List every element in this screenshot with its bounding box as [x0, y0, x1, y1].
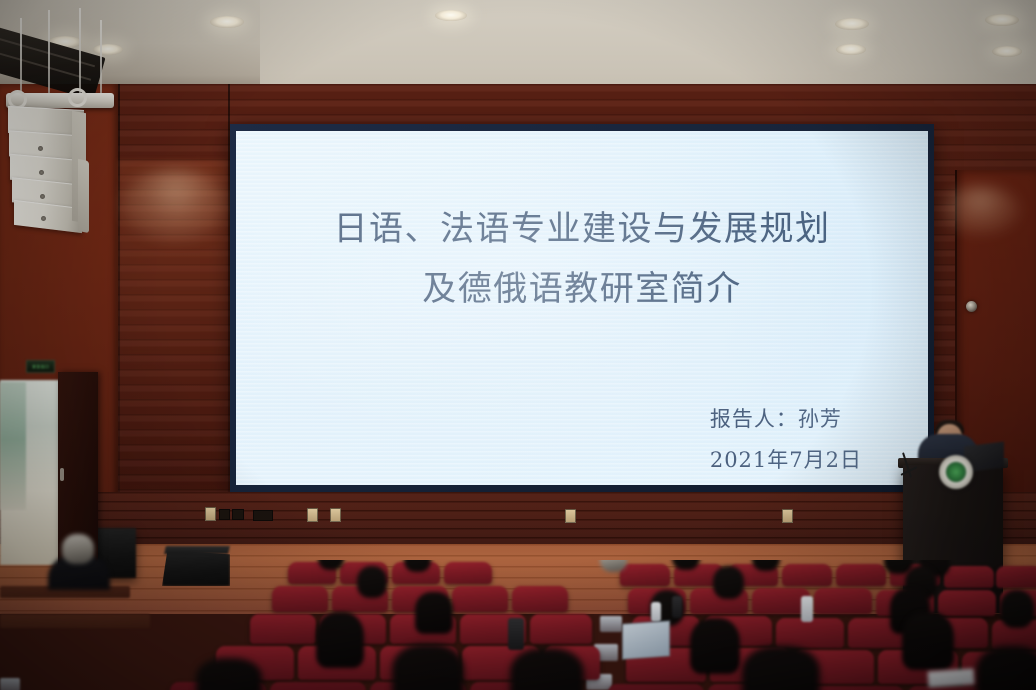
- seat[interactable]: [944, 566, 994, 588]
- wall-outlet: [565, 509, 576, 523]
- audience-head: [415, 592, 453, 634]
- emblem-center-icon: [947, 463, 965, 481]
- rigging-eyelet-icon: [68, 88, 87, 107]
- wall-panel-box: [253, 510, 273, 521]
- wall-outlet: [205, 507, 216, 521]
- wall-speaker-icon: [966, 301, 977, 312]
- audience-head: [510, 648, 584, 690]
- audience-head: [357, 566, 387, 598]
- downlight-icon: [985, 14, 1019, 26]
- projection-screen-frame: 日语、法语专业建设与发展规划 及德俄语教研室简介 报告人：孙芳 2021年7月2…: [230, 124, 934, 492]
- audience-head: [62, 534, 94, 564]
- stage-back-wall: [0, 492, 1036, 546]
- university-emblem: [939, 455, 973, 489]
- slide-title-line-1: 日语、法语专业建设与发展规划: [334, 209, 831, 249]
- water-bottle: [672, 596, 682, 618]
- wall-outlet: [782, 509, 793, 523]
- speaker-driver-icon: [39, 170, 44, 175]
- wall-outlet: [330, 508, 341, 522]
- slide-date: 2021年7月2日: [710, 440, 862, 481]
- seat[interactable]: [608, 684, 704, 690]
- seat[interactable]: [530, 614, 592, 644]
- wall-light-pool: [120, 170, 230, 240]
- seat[interactable]: [814, 588, 872, 614]
- audience-head: [316, 612, 364, 668]
- audience-head: [196, 658, 262, 690]
- seat[interactable]: [996, 566, 1036, 588]
- audience-head: [902, 612, 954, 670]
- audience-head: [392, 644, 464, 690]
- rigging-cable: [20, 18, 22, 96]
- wall-light-pool: [940, 186, 1020, 234]
- rigging-cable: [100, 20, 102, 96]
- slide-presenter: 报告人：孙芳: [710, 399, 862, 440]
- seat[interactable]: [512, 586, 568, 612]
- slide-meta-block: 报告人：孙芳 2021年7月2日: [710, 399, 862, 481]
- line-array-side-panel: [78, 159, 89, 233]
- seat[interactable]: [452, 586, 508, 612]
- speaker-driver-icon: [41, 216, 46, 221]
- aisle-step-light: [0, 678, 20, 690]
- downlight-icon: [835, 18, 869, 30]
- seat[interactable]: [620, 564, 670, 586]
- downlight-icon: [992, 46, 1022, 57]
- door-handle-icon[interactable]: [60, 468, 64, 481]
- downlight-icon: [210, 16, 244, 28]
- tablet-device[interactable]: [622, 620, 670, 659]
- seat[interactable]: [444, 562, 492, 584]
- slide-title: 日语、法语专业建设与发展规划 及德俄语教研室简介: [236, 199, 928, 319]
- rigging-cable: [79, 8, 81, 96]
- seat[interactable]: [272, 586, 328, 612]
- downlight-icon: [435, 10, 467, 21]
- seat[interactable]: [776, 618, 844, 648]
- projection-screen[interactable]: 日语、法语专业建设与发展规划 及德俄语教研室简介 报告人：孙芳 2021年7月2…: [236, 131, 928, 485]
- water-bottle: [508, 618, 524, 650]
- seat[interactable]: [808, 686, 904, 690]
- water-bottle: [801, 596, 813, 622]
- audience-head: [713, 566, 744, 599]
- speaker-driver-icon: [40, 194, 45, 199]
- downlight-icon: [93, 44, 123, 55]
- stage-monitor-top: [164, 546, 230, 554]
- wall-panel-box: [219, 509, 230, 520]
- door-glass-panel: [0, 382, 26, 510]
- paper-handout: [927, 668, 974, 687]
- water-bottle: [651, 602, 661, 622]
- exit-sign: 安全出口: [26, 360, 55, 373]
- side-desk: [0, 614, 150, 628]
- audience-head: [976, 646, 1036, 690]
- speaker-driver-icon: [38, 146, 43, 151]
- audience-head: [690, 618, 740, 674]
- seat[interactable]: [938, 590, 996, 616]
- wall-seam: [118, 84, 120, 524]
- audience-head: [1000, 590, 1034, 628]
- rigging-cable: [48, 10, 50, 96]
- audience-seating: [0, 560, 1036, 690]
- seat[interactable]: [270, 682, 366, 690]
- aisle-step-light: [600, 616, 622, 632]
- wall-outlet: [307, 508, 318, 522]
- seat[interactable]: [250, 614, 316, 644]
- seat[interactable]: [782, 564, 832, 586]
- downlight-icon: [836, 44, 866, 55]
- slide-title-line-2: 及德俄语教研室简介: [236, 259, 928, 319]
- audience-head: [742, 646, 820, 690]
- seat[interactable]: [836, 564, 886, 586]
- auditorium-scene: 日语、法语专业建设与发展规划 及德俄语教研室简介 报告人：孙芳 2021年7月2…: [0, 0, 1036, 690]
- wall-panel-box: [232, 509, 244, 520]
